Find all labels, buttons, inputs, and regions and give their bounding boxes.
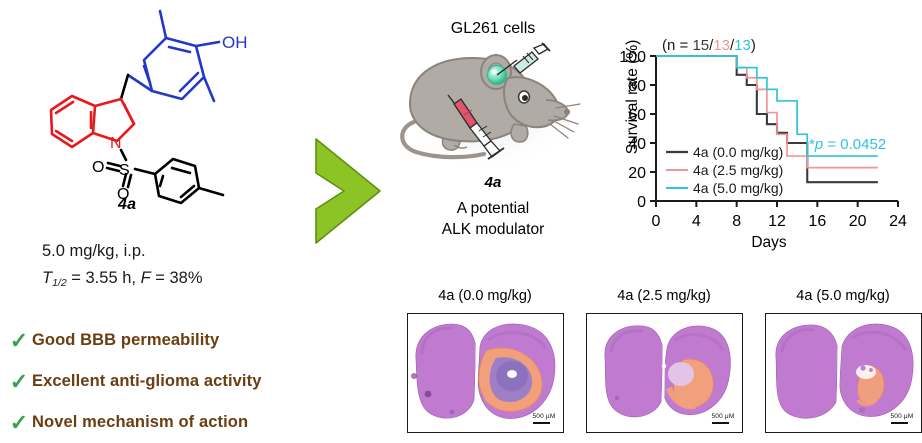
histology-group-2: 4a (5.0 mg/kg) 500 μM [763, 288, 922, 433]
bioavailability-symbol: F [141, 269, 151, 287]
x-tick-label: 0 [652, 213, 661, 230]
chart-legend: 4a (0.0 mg/kg)4a (2.5 mg/kg)4a (5.0 mg/k… [666, 144, 783, 196]
histology-group-0: 4a (0.0 mg/kg) [405, 288, 565, 433]
check-icon: ✓ [6, 412, 32, 434]
chemical-structure-panel: OH N [0, 0, 320, 232]
scale-bar-line [712, 422, 729, 424]
legend-label-2: 4a (5.0 mg/kg) [693, 180, 783, 196]
mouse-icon [396, 42, 591, 177]
list-item: ✓ Novel mechanism of action [6, 402, 396, 443]
scheme-caption-line-1: A potential [388, 198, 598, 219]
x-tick-label: 24 [889, 213, 907, 230]
p-value-annotation: *p = 0.0452 [809, 136, 886, 153]
in-vivo-scheme-panel: GL261 cells [388, 0, 598, 250]
check-icon: ✓ [6, 371, 32, 393]
sulfur-label: S [119, 162, 130, 179]
x-tick-label: 12 [768, 213, 786, 230]
histology-title: 4a (5.0 mg/kg) [763, 288, 922, 310]
sulfonyl-oxygen-1-label: O [92, 159, 104, 176]
mouse-illustration [396, 42, 591, 182]
histology-group-1: 4a (2.5 mg/kg) 500 μM [584, 288, 744, 433]
dose-line: 5.0 mg/kg, i.p. [42, 238, 203, 265]
highlight-text: Good BBB permeability [32, 331, 219, 350]
hydroxyl-label: OH [222, 33, 248, 52]
highlight-text: Excellent anti-glioma activity [32, 372, 262, 391]
histology-title: 4a (2.5 mg/kg) [584, 288, 744, 310]
x-tick-label: 20 [849, 213, 867, 230]
compound-name-label: 4a [118, 196, 136, 214]
scale-bar-line [533, 422, 550, 424]
histology-panels: 4a (0.0 mg/kg) [405, 288, 922, 443]
bioavailability-value: = 38% [151, 269, 203, 287]
gl261-cells-label: GL261 cells [388, 20, 598, 38]
pharmacokinetics-block: 5.0 mg/kg, i.p. T1/2 = 3.55 h, F = 38% [42, 238, 203, 297]
x-axis-ticks: 04812162024 [652, 201, 907, 230]
x-tick-label: 8 [732, 213, 741, 230]
sample-size-annotation: (n = 15/13/13) [662, 37, 756, 54]
histology-title: 4a (0.0 mg/kg) [405, 288, 565, 310]
scheme-caption: A potential ALK modulator [388, 198, 598, 240]
x-tick-label: 16 [808, 213, 826, 230]
compound-4a-structure-svg: OH N [0, 0, 320, 232]
histology-image-0: 500 μM [407, 313, 564, 433]
halflife-line: T1/2 = 3.55 h, F = 38% [42, 265, 203, 297]
t-half-value: = 3.55 h, [67, 269, 141, 287]
scale-bar-label: 500 μM [890, 413, 913, 420]
kaplan-meier-chart: 020406080100 04812162024 (n = 15/13/13) … [596, 18, 922, 234]
check-icon: ✓ [6, 330, 32, 352]
y-axis-label: Survival rate (%) [624, 17, 642, 177]
t-half-subscript: 1/2 [52, 277, 67, 289]
scheme-compound-label: 4a [388, 174, 598, 191]
list-item: ✓ Good BBB permeability [6, 320, 396, 361]
list-item: ✓ Excellent anti-glioma activity [6, 361, 396, 402]
legend-label-1: 4a (2.5 mg/kg) [693, 162, 783, 178]
survival-chart-panel: 020406080100 04812162024 (n = 15/13/13) … [596, 18, 922, 264]
highlights-list: ✓ Good BBB permeability ✓ Excellent anti… [6, 320, 396, 443]
green-chevron-arrow [312, 135, 384, 247]
t-half-symbol: T [42, 269, 52, 287]
scale-bar-label: 500 μM [711, 413, 734, 420]
graphical-abstract: OH N [0, 0, 922, 443]
scale-bar-label: 500 μM [532, 413, 555, 420]
scheme-caption-line-2: ALK modulator [388, 219, 598, 240]
chevron-right-icon [312, 135, 384, 247]
x-tick-label: 4 [692, 213, 701, 230]
y-tick-label: 0 [637, 194, 646, 211]
histology-image-1: 500 μM [586, 313, 743, 433]
highlight-text: Novel mechanism of action [32, 413, 248, 432]
legend-label-0: 4a (0.0 mg/kg) [693, 144, 783, 160]
histology-image-2: 500 μM [765, 313, 922, 433]
scale-bar-line [891, 422, 908, 424]
x-axis-label: Days [644, 234, 894, 252]
